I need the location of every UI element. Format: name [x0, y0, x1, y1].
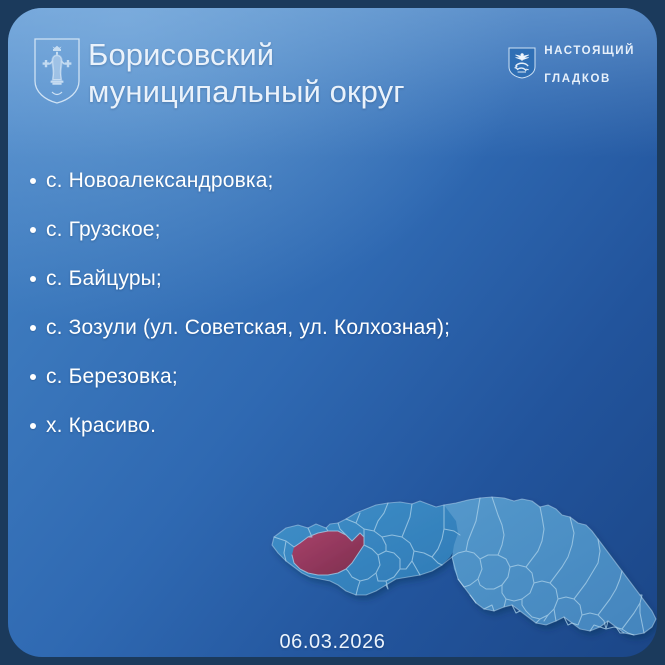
list-item: х. Красиво.	[8, 401, 657, 450]
list-item-label: с. Байцуры;	[46, 267, 162, 291]
card-header: Борисовский муниципальный округ	[8, 8, 657, 148]
list-item-label: с. Грузское;	[46, 218, 161, 242]
brand-lockup: НАСТОЯЩИЙ ГЛАДКОВ	[508, 30, 635, 100]
bullet-icon	[30, 374, 36, 380]
brand-name-line-1: НАСТОЯЩИЙ	[544, 44, 635, 58]
list-item-label: с. Зозули (ул. Советская, ул. Колхозная)…	[46, 316, 450, 340]
list-item: с. Грузское;	[8, 205, 657, 254]
page-title-line-1: Борисовский	[88, 36, 405, 73]
list-item-label: с. Новоалександровка;	[46, 169, 274, 193]
borisovsky-coat-of-arms-icon	[33, 37, 81, 105]
bullet-icon	[30, 178, 36, 184]
bullet-icon	[30, 423, 36, 429]
belgorod-oblast-districts-map-icon	[260, 495, 657, 650]
settlement-list: с. Новоалександровка; с. Грузское; с. Ба…	[8, 156, 657, 450]
list-item: с. Новоалександровка;	[8, 156, 657, 205]
list-item: с. Зозули (ул. Советская, ул. Колхозная)…	[8, 303, 657, 352]
page-title: Борисовский муниципальный округ	[88, 36, 405, 110]
belgorod-oblast-emblem-icon	[508, 47, 536, 84]
list-item: с. Байцуры;	[8, 254, 657, 303]
list-item-label: с. Березовка;	[46, 365, 178, 389]
page-title-line-2: муниципальный округ	[88, 73, 405, 110]
list-item: с. Березовка;	[8, 352, 657, 401]
bullet-icon	[30, 325, 36, 331]
bullet-icon	[30, 276, 36, 282]
brand-name: НАСТОЯЩИЙ ГЛАДКОВ	[544, 30, 635, 100]
info-card: Борисовский муниципальный округ	[8, 8, 657, 657]
list-item-label: х. Красиво.	[46, 414, 156, 438]
publication-date: 06.03.2026	[8, 631, 657, 654]
brand-name-line-2: ГЛАДКОВ	[544, 72, 635, 86]
bullet-icon	[30, 227, 36, 233]
